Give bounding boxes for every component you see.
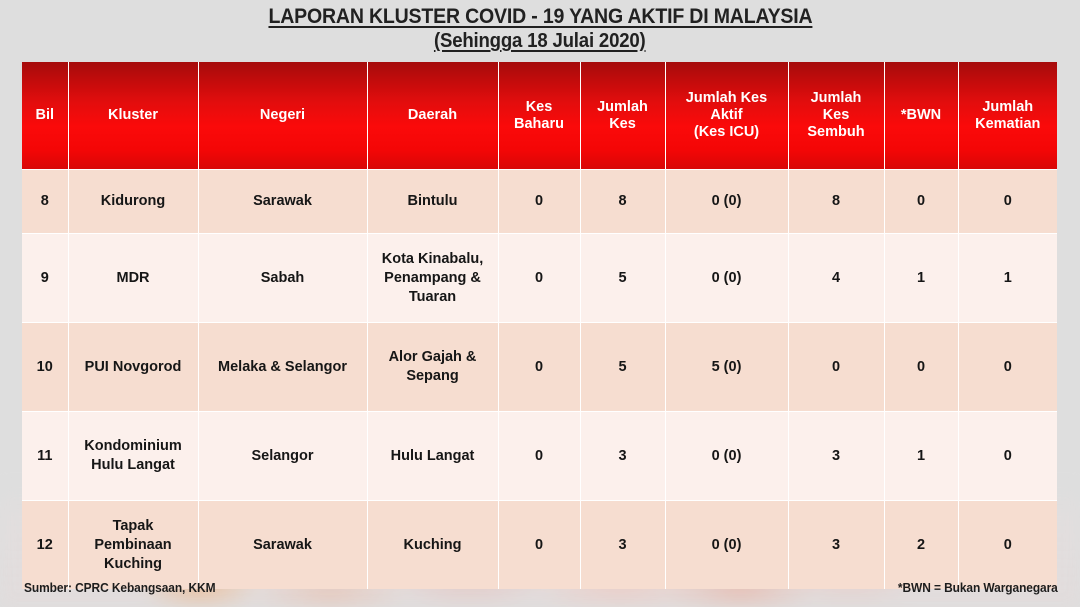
cell-kluster: MDR <box>68 234 198 323</box>
cell-kluster-line-2: Pembinaan <box>94 537 171 553</box>
cell-bwn: 0 <box>884 170 958 234</box>
footer-source-text: Sumber: CPRC Kebangsaan, KKM <box>24 580 215 595</box>
cell-negeri: Selangor <box>198 412 367 501</box>
cell-daerah-line-1: Alor Gajah & <box>389 349 477 365</box>
column-header-negeri: Negeri <box>198 62 367 170</box>
cell-jumlah-kes: 3 <box>580 412 665 501</box>
cell-bil: 8 <box>22 170 68 234</box>
cell-kes-baharu: 0 <box>498 412 580 501</box>
cell-bwn: 2 <box>884 501 958 590</box>
table-row: 8 Kidurong Sarawak Bintulu 0 8 0 (0) 8 0… <box>22 170 1057 234</box>
cell-jumlah-kes: 5 <box>580 234 665 323</box>
cell-bil: 10 <box>22 323 68 412</box>
table-header-row: Bil Kluster Negeri Daerah Kes Baharu Jum… <box>22 62 1057 170</box>
column-header-bwn: *BWN <box>884 62 958 170</box>
cell-kluster-line-1: Tapak <box>113 518 154 534</box>
cell-kes-sembuh: 3 <box>788 412 884 501</box>
cell-negeri: Melaka & Selangor <box>198 323 367 412</box>
cell-kes-sembuh: 3 <box>788 501 884 590</box>
cell-daerah-line-2: Penampang & <box>384 270 481 286</box>
cell-kes-sembuh: 0 <box>788 323 884 412</box>
cell-bwn: 1 <box>884 412 958 501</box>
column-header-jumlah-kes-aktif: Jumlah Kes Aktif (Kes ICU) <box>665 62 788 170</box>
cell-kluster-line-1: Kondominium <box>84 438 181 454</box>
column-header-jumlah-kes-sembuh-line-3: Sembuh <box>807 124 864 140</box>
cell-daerah-line-1: Kota Kinabalu, <box>382 251 484 267</box>
cell-kluster-line-1: Kidurong <box>101 193 165 209</box>
cell-jumlah-kes: 5 <box>580 323 665 412</box>
cell-kluster: PUI Novgorod <box>68 323 198 412</box>
table-row: 9 MDR Sabah Kota Kinabalu, Penampang & T… <box>22 234 1057 323</box>
cell-kes-aktif: 5 (0) <box>665 323 788 412</box>
column-header-negeri-line-1: Negeri <box>260 107 305 123</box>
table-row: 12 Tapak Pembinaan Kuching Sarawak Kuchi… <box>22 501 1057 590</box>
table-header: Bil Kluster Negeri Daerah Kes Baharu Jum… <box>22 62 1057 170</box>
cell-negeri: Sabah <box>198 234 367 323</box>
table-row: 10 PUI Novgorod Melaka & Selangor Alor G… <box>22 323 1057 412</box>
cell-kematian: 0 <box>958 412 1057 501</box>
column-header-kluster: Kluster <box>68 62 198 170</box>
cell-kluster-line-1: PUI Novgorod <box>85 359 182 375</box>
column-header-daerah: Daerah <box>367 62 498 170</box>
cell-negeri: Sarawak <box>198 170 367 234</box>
column-header-kes-baharu: Kes Baharu <box>498 62 580 170</box>
column-header-jumlah-kes-aktif-line-3: (Kes ICU) <box>694 124 759 140</box>
table-body: 8 Kidurong Sarawak Bintulu 0 8 0 (0) 8 0… <box>22 170 1057 590</box>
column-header-jumlah-kes-sembuh-line-2: Kes <box>823 107 850 123</box>
cell-daerah-line-3: Tuaran <box>409 289 456 305</box>
table-row: 11 Kondominium Hulu Langat Selangor Hulu… <box>22 412 1057 501</box>
column-header-bwn-line-1: *BWN <box>901 107 941 123</box>
title-main-line: LAPORAN KLUSTER COVID - 19 YANG AKTIF DI… <box>268 4 812 29</box>
cell-kluster-line-1: MDR <box>116 270 149 286</box>
cell-kes-aktif: 0 (0) <box>665 501 788 590</box>
cell-kematian: 0 <box>958 170 1057 234</box>
cell-daerah-line-1: Hulu Langat <box>391 448 475 464</box>
cell-daerah: Bintulu <box>367 170 498 234</box>
column-header-kes-baharu-line-2: Baharu <box>514 116 564 132</box>
cell-kematian: 0 <box>958 501 1057 590</box>
cell-kes-sembuh: 4 <box>788 234 884 323</box>
cell-kes-aktif: 0 (0) <box>665 412 788 501</box>
cell-kluster-line-3: Kuching <box>104 556 162 572</box>
column-header-bil-line-1: Bil <box>35 107 54 123</box>
cell-daerah: Alor Gajah & Sepang <box>367 323 498 412</box>
cell-bwn: 0 <box>884 323 958 412</box>
column-header-jumlah-kematian-line-2: Kematian <box>975 116 1040 132</box>
column-header-kes-baharu-line-1: Kes <box>526 99 553 115</box>
cell-daerah-line-1: Bintulu <box>408 193 458 209</box>
cell-kluster: Tapak Pembinaan Kuching <box>68 501 198 590</box>
footer-bwn-note: *BWN = Bukan Warganegara <box>898 580 1058 595</box>
cell-daerah: Hulu Langat <box>367 412 498 501</box>
cell-kes-baharu: 0 <box>498 234 580 323</box>
cell-jumlah-kes: 3 <box>580 501 665 590</box>
column-header-jumlah-kes-aktif-line-2: Aktif <box>710 107 742 123</box>
cell-kematian: 1 <box>958 234 1057 323</box>
column-header-jumlah-kematian: Jumlah Kematian <box>958 62 1057 170</box>
cell-bil: 11 <box>22 412 68 501</box>
cell-kes-aktif: 0 (0) <box>665 170 788 234</box>
cell-kes-baharu: 0 <box>498 323 580 412</box>
cell-kluster: Kidurong <box>68 170 198 234</box>
cell-kluster-line-2: Hulu Langat <box>91 457 175 473</box>
column-header-bil: Bil <box>22 62 68 170</box>
cluster-table: Bil Kluster Negeri Daerah Kes Baharu Jum… <box>22 62 1057 589</box>
title-sub-line: (Sehingga 18 Julai 2020) <box>434 29 646 54</box>
cell-negeri: Sarawak <box>198 501 367 590</box>
cell-jumlah-kes: 8 <box>580 170 665 234</box>
cell-kematian: 0 <box>958 323 1057 412</box>
page-title: LAPORAN KLUSTER COVID - 19 YANG AKTIF DI… <box>0 4 1080 54</box>
column-header-jumlah-kes: Jumlah Kes <box>580 62 665 170</box>
cell-bil: 12 <box>22 501 68 590</box>
cell-kluster: Kondominium Hulu Langat <box>68 412 198 501</box>
cell-bil: 9 <box>22 234 68 323</box>
column-header-daerah-line-1: Daerah <box>408 107 457 123</box>
column-header-jumlah-kes-sembuh-line-1: Jumlah <box>811 90 862 106</box>
cell-bwn: 1 <box>884 234 958 323</box>
cell-kes-baharu: 0 <box>498 170 580 234</box>
cell-daerah: Kota Kinabalu, Penampang & Tuaran <box>367 234 498 323</box>
cell-kes-baharu: 0 <box>498 501 580 590</box>
cell-daerah: Kuching <box>367 501 498 590</box>
cell-daerah-line-2: Sepang <box>406 368 458 384</box>
column-header-jumlah-kes-sembuh: Jumlah Kes Sembuh <box>788 62 884 170</box>
column-header-jumlah-kes-line-1: Jumlah <box>597 99 648 115</box>
column-header-jumlah-kes-aktif-line-1: Jumlah Kes <box>686 90 767 106</box>
cell-kes-aktif: 0 (0) <box>665 234 788 323</box>
column-header-kluster-line-1: Kluster <box>108 107 158 123</box>
column-header-jumlah-kematian-line-1: Jumlah <box>982 99 1033 115</box>
cell-daerah-line-1: Kuching <box>404 537 462 553</box>
cell-kes-sembuh: 8 <box>788 170 884 234</box>
column-header-jumlah-kes-line-2: Kes <box>609 116 636 132</box>
